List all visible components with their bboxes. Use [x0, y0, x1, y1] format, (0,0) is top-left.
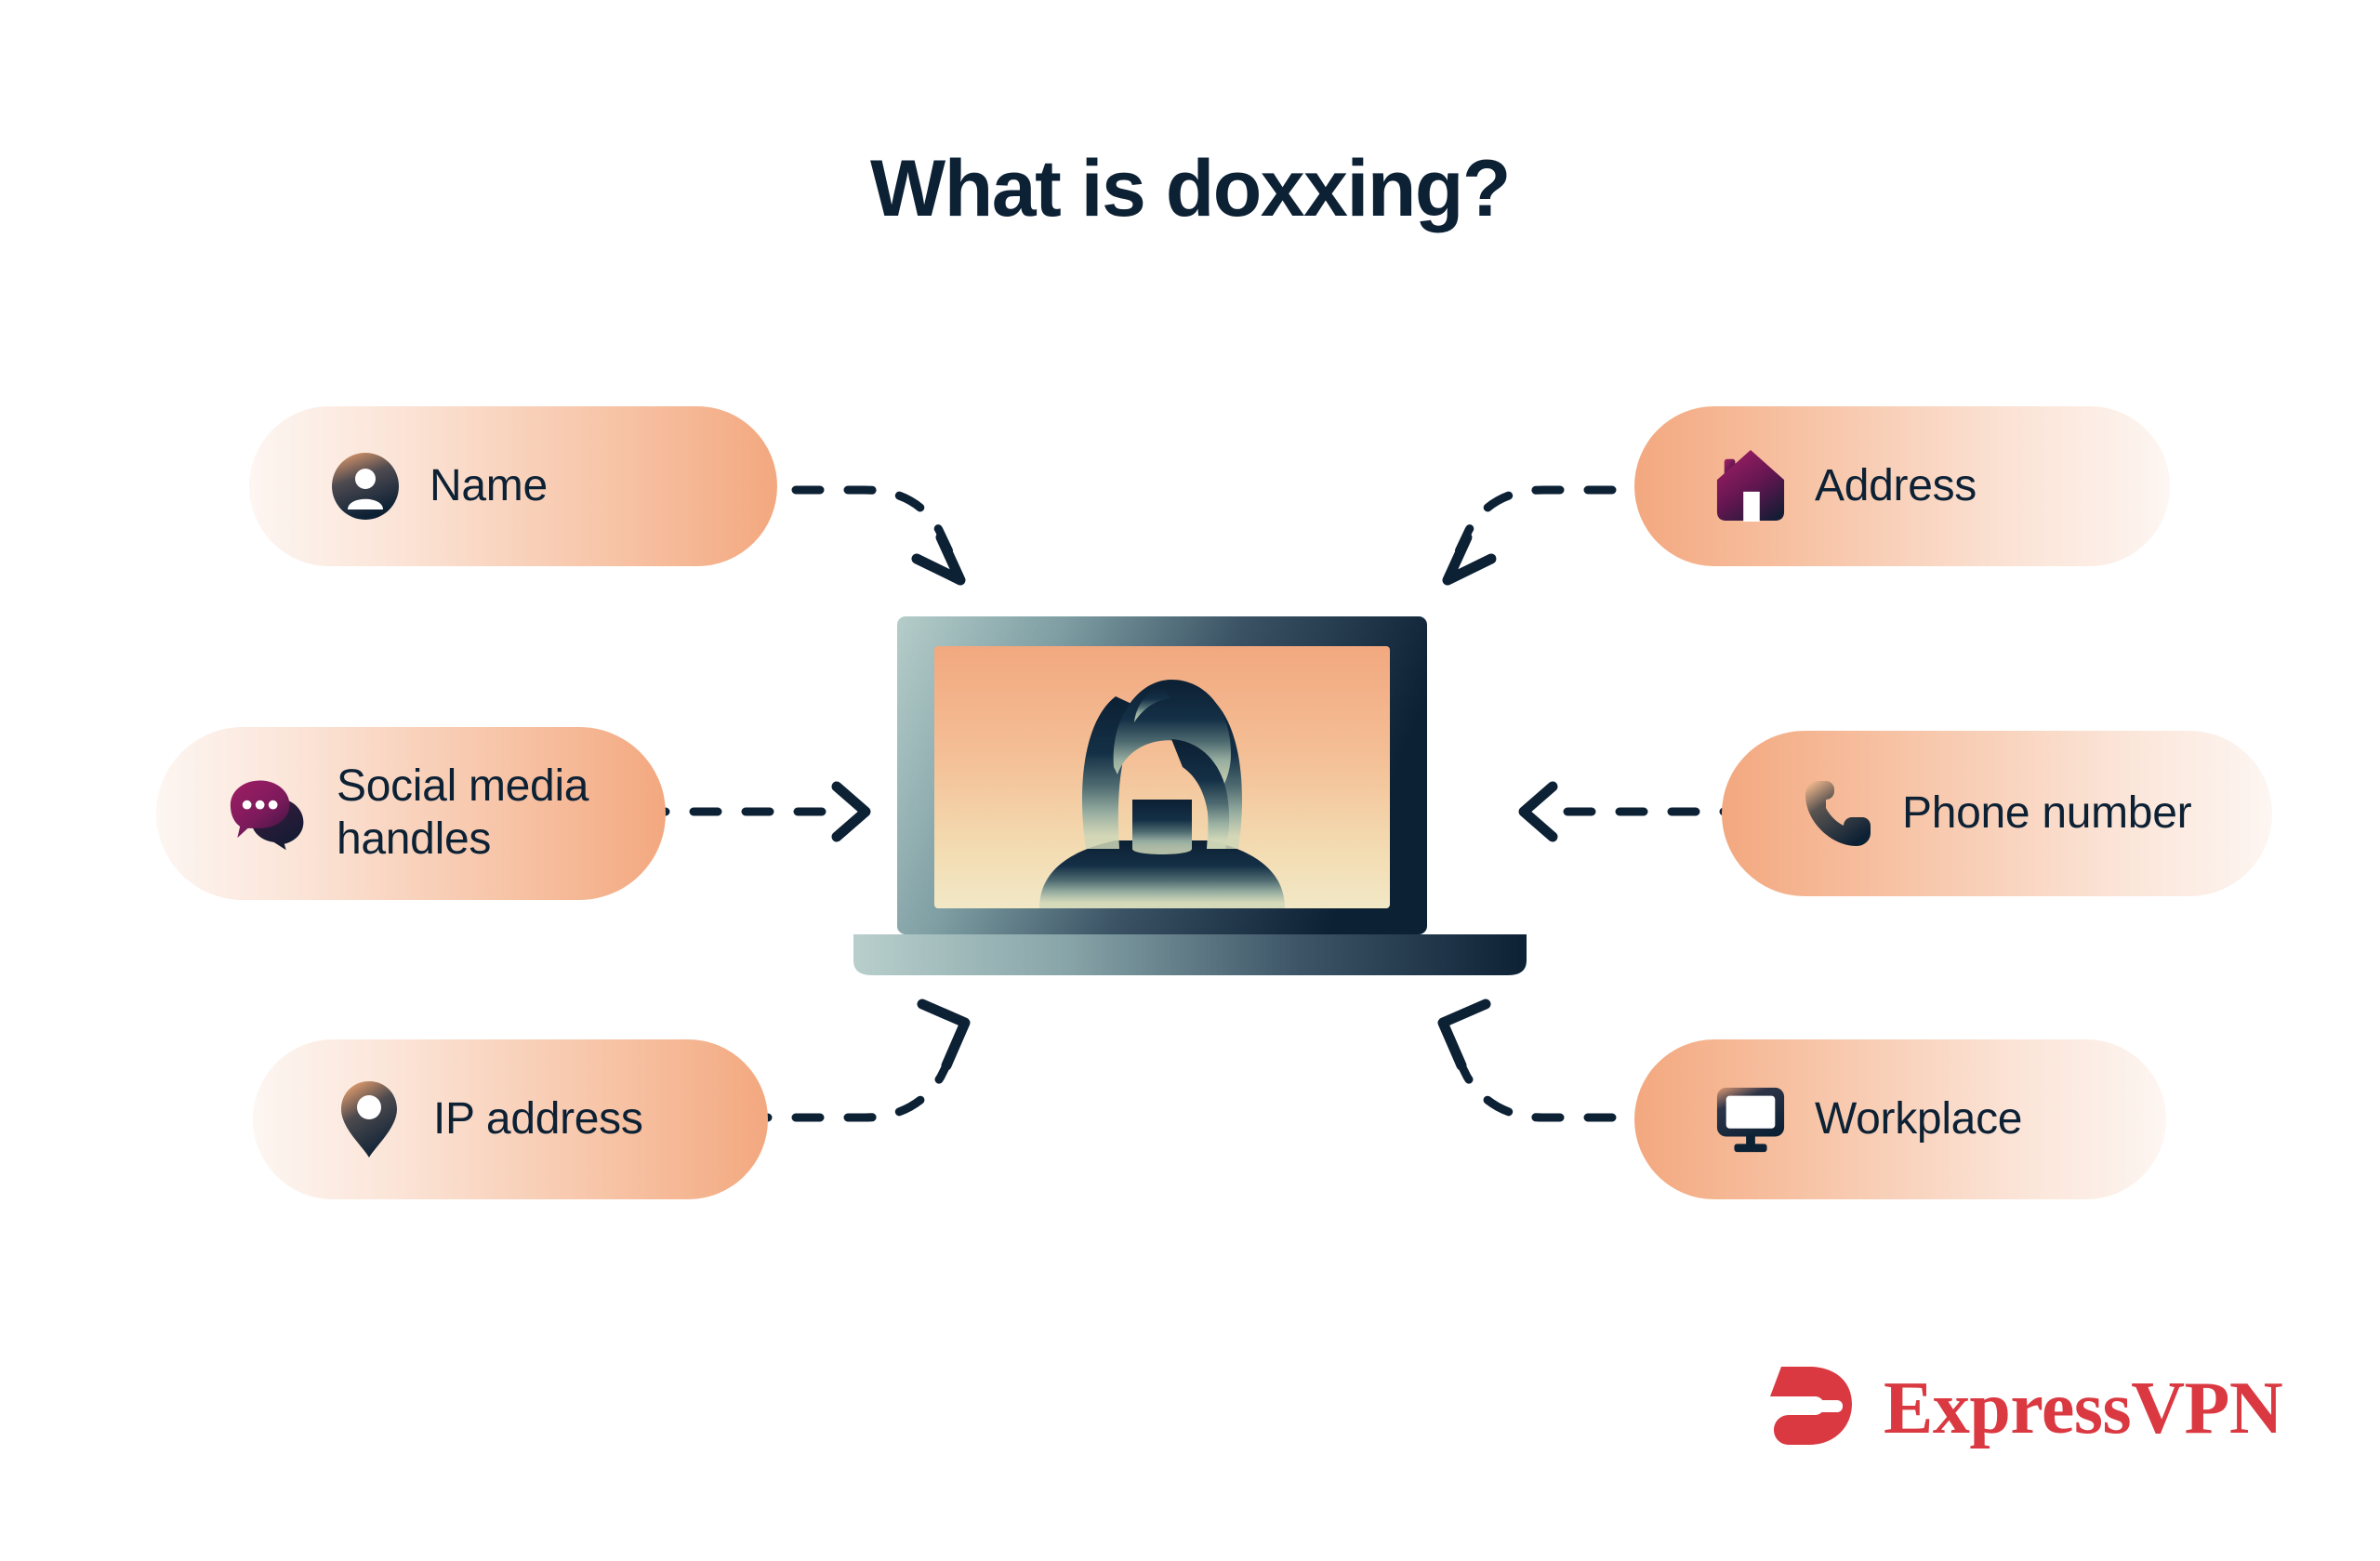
- map-pin-icon: [333, 1083, 405, 1156]
- brand-logo: ExpressVPN: [1766, 1363, 2282, 1453]
- pill-name-label: Name: [430, 460, 548, 513]
- pill-address-label: Address: [1815, 460, 1977, 513]
- brand-wordmark: ExpressVPN: [1884, 1371, 2282, 1446]
- pill-ip-address[interactable]: IP address: [253, 1039, 768, 1199]
- person-circle-icon: [329, 450, 402, 523]
- infographic-canvas: What is doxxing?: [0, 0, 2380, 1561]
- house-icon: [1714, 450, 1787, 523]
- pill-workplace[interactable]: Workplace: [1634, 1039, 2166, 1199]
- expressvpn-e-icon: [1766, 1363, 1859, 1453]
- pill-phone-number[interactable]: Phone number: [1722, 731, 2272, 896]
- arrow-name-to-laptop: [744, 490, 960, 580]
- pill-workplace-label: Workplace: [1815, 1093, 2022, 1146]
- pill-ip-address-label: IP address: [433, 1093, 643, 1146]
- laptop-with-person-silhouette: [837, 600, 1543, 1027]
- page-title: What is doxxing?: [0, 147, 2380, 231]
- chat-bubbles-icon: [236, 777, 309, 850]
- pill-social-media-label: Social media handles: [337, 761, 588, 866]
- arrow-address-to-laptop: [1448, 490, 1664, 580]
- arrow-phone-to-laptop: [1524, 787, 1748, 837]
- pill-phone-number-label: Phone number: [1902, 787, 2191, 840]
- pill-address[interactable]: Address: [1634, 406, 2170, 566]
- arrow-social-to-laptop: [641, 787, 866, 837]
- phone-handset-icon: [1802, 777, 1874, 850]
- pill-social-media[interactable]: Social media handles: [156, 727, 666, 900]
- pill-name[interactable]: Name: [249, 406, 777, 566]
- monitor-icon: [1714, 1083, 1787, 1156]
